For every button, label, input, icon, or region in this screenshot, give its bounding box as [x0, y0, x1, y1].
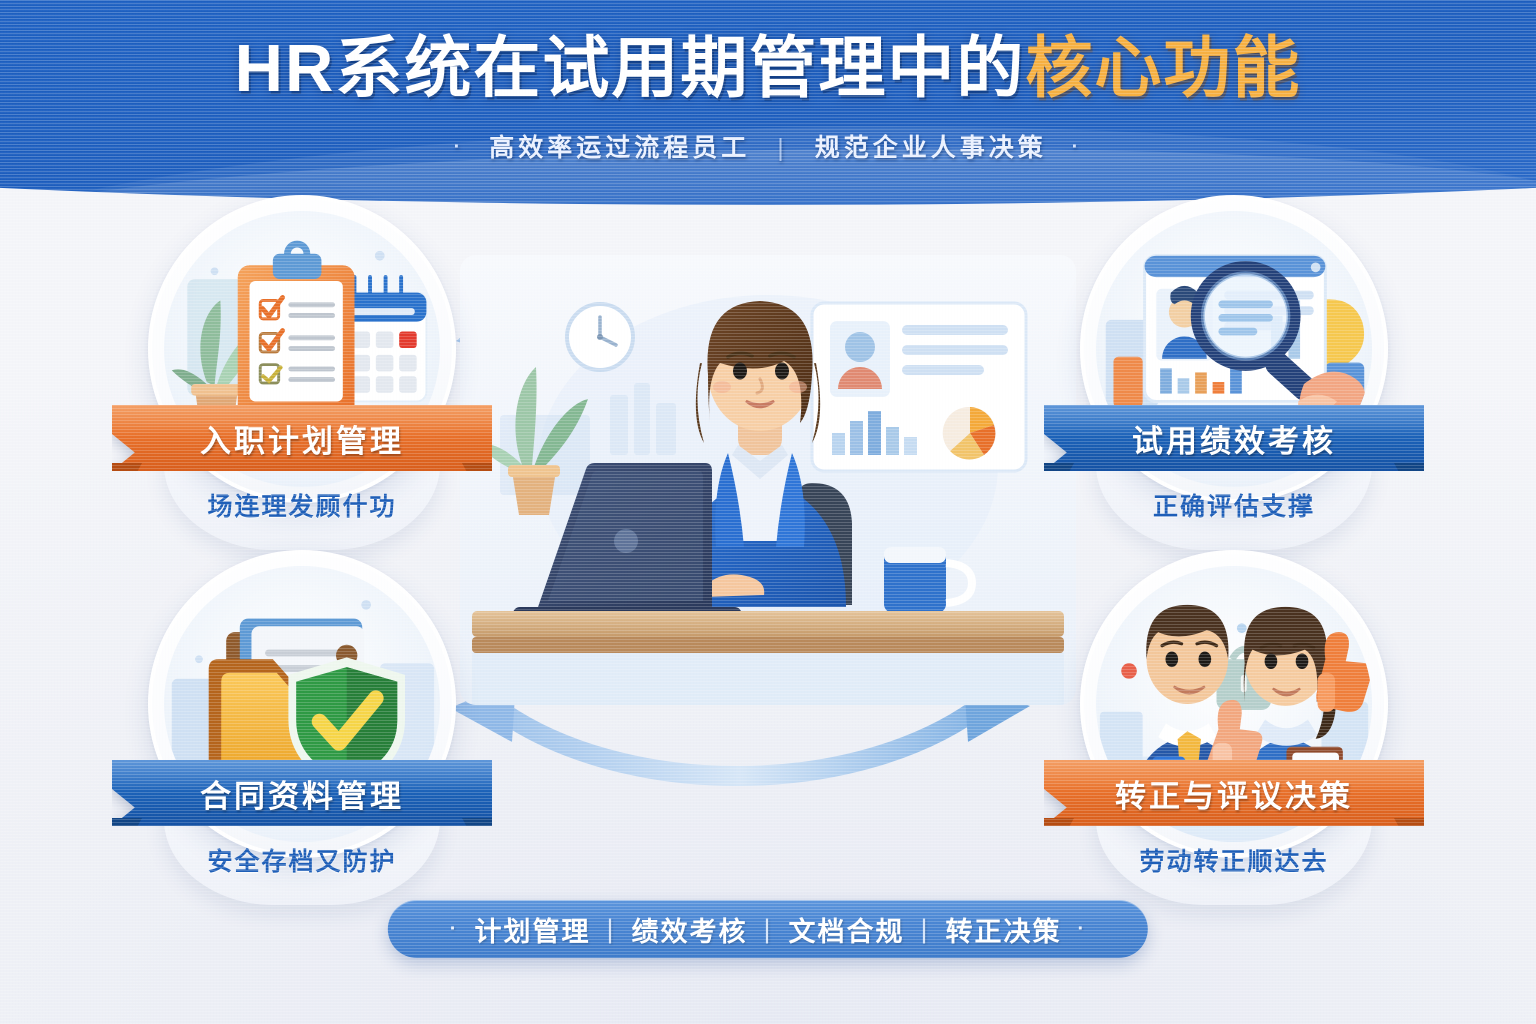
dashboard-pie [943, 407, 996, 460]
card-title-conversion: 转正与评议决策 [1115, 771, 1353, 816]
card-ribbon-conversion: 转正与评议决策 [1044, 760, 1424, 826]
page-title: HR系统在试用期管理中的核心功能 [0, 34, 1536, 104]
page-subtitle: · 高效率运过流程员工 | 规范企业人事决策 · [0, 128, 1536, 164]
subtitle-separator: | [761, 134, 804, 162]
page-title-main: HR系统在试用期管理中的 [235, 31, 1026, 106]
card-caption-onboarding: 场连理发顾什功 [126, 487, 478, 523]
ribbon-tail-right [462, 818, 492, 840]
subtitle-dot-right: · [1058, 136, 1097, 158]
bottom-separator-0: | [590, 914, 631, 945]
card-caption-performance: 正确评估支撑 [1058, 487, 1410, 523]
infographic-page: HR系统在试用期管理中的核心功能 · 高效率运过流程员工 | 规范企业人事决策 … [0, 0, 1536, 1024]
card-title-contract: 合同资料管理 [200, 771, 404, 816]
card-title-onboarding: 入职计划管理 [200, 416, 404, 461]
ribbon-tail-left [112, 818, 142, 840]
bottom-item-1: 绩效考核 [631, 910, 747, 949]
clipboard-icon [238, 244, 355, 417]
feature-card-contract-documents[interactable]: 合同资料管理 安全存档又防护 [126, 550, 478, 910]
page-title-accent: 核心功能 [1025, 31, 1301, 106]
bottom-separator-2: | [905, 914, 946, 945]
ribbon-tail-right [1394, 818, 1424, 840]
feature-card-conversion-decision[interactable]: 转正与评议决策 劳动转正顺达去 [1058, 550, 1410, 910]
card-ribbon-contract: 合同资料管理 [112, 760, 492, 826]
subtitle-right-text: 规范企业人事决策 [815, 134, 1047, 162]
wall-clock [567, 304, 633, 370]
bottom-item-3: 转正决策 [946, 910, 1062, 949]
feature-card-probation-performance[interactable]: 试用绩效考核 正确评估支撑 [1058, 195, 1410, 555]
card-ribbon-onboarding: 入职计划管理 [112, 405, 492, 471]
bottom-item-0: 计划管理 [474, 910, 590, 949]
bottom-dot-right: · [1062, 918, 1103, 941]
bottom-separator-1: | [747, 914, 788, 945]
card-ribbon-performance: 试用绩效考核 [1044, 405, 1424, 471]
subtitle-left-text: 高效率运过流程员工 [489, 134, 750, 162]
dashboard-screen [812, 303, 1026, 471]
subtitle-dot-left: · [440, 136, 479, 158]
bottom-dot-left: · [434, 918, 475, 941]
card-caption-conversion: 劳动转正顺达去 [1058, 842, 1410, 878]
ribbon-tail-right [1394, 463, 1424, 485]
bottom-summary-bar: · 计划管理 | 绩效考核 | 文档合规 | 转正决策 · [388, 900, 1148, 958]
card-title-performance: 试用绩效考核 [1132, 416, 1336, 461]
ribbon-tail-left [112, 463, 142, 485]
desk [472, 611, 1064, 705]
ribbon-tail-left [1044, 818, 1074, 840]
feature-card-onboarding-plan[interactable]: 入职计划管理 场连理发顾什功 [126, 195, 478, 555]
bottom-item-2: 文档合规 [789, 910, 905, 949]
hr-officer-scene [460, 255, 1076, 705]
card-caption-contract: 安全存档又防护 [126, 842, 478, 878]
